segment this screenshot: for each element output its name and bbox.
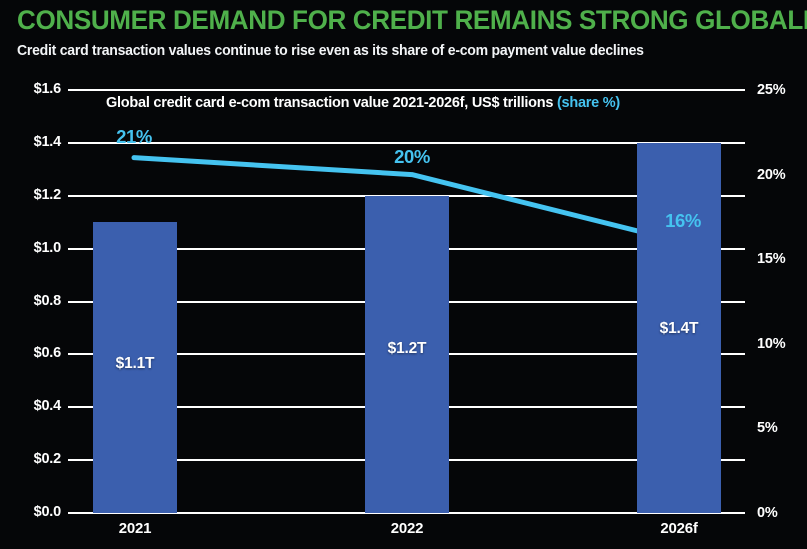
gridline xyxy=(68,89,745,91)
y-axis-right-tick: 0% xyxy=(757,505,807,521)
y-axis-right-tick: 5% xyxy=(757,420,807,436)
line-value-label-2022: 20% xyxy=(357,146,467,168)
y-axis-left-tick: $0.8 xyxy=(1,293,61,309)
y-axis-left-tick: $0.4 xyxy=(1,398,61,414)
line-value-label-2026f: 16% xyxy=(628,210,738,232)
bar-value-label-2026f: $1.4T xyxy=(619,320,739,338)
y-axis-right-tick: 20% xyxy=(757,167,807,183)
chart-canvas: CONSUMER DEMAND FOR CREDIT REMAINS STRON… xyxy=(0,0,807,549)
bar-value-label-2021: $1.1T xyxy=(75,355,195,373)
y-axis-right-tick: 15% xyxy=(757,251,807,267)
y-axis-left-tick: $0.6 xyxy=(1,345,61,361)
x-axis-tick-2022: 2022 xyxy=(347,520,467,537)
y-axis-left-tick: $1.6 xyxy=(1,81,61,97)
y-axis-left-tick: $1.0 xyxy=(1,240,61,256)
y-axis-left-tick: $1.2 xyxy=(1,187,61,203)
chart-area: Global credit card e-com transaction val… xyxy=(0,0,807,549)
line-value-label-2021: 21% xyxy=(79,126,189,148)
bar-value-label-2022: $1.2T xyxy=(347,340,467,358)
y-axis-left-tick: $0.2 xyxy=(1,451,61,467)
x-axis-tick-2026f: 2026f xyxy=(619,520,739,537)
y-axis-right-tick: 25% xyxy=(757,82,807,98)
x-axis-tick-2021: 2021 xyxy=(75,520,195,537)
y-axis-left-tick: $1.4 xyxy=(1,134,61,150)
y-axis-left-tick: $0.0 xyxy=(1,504,61,520)
y-axis-right-tick: 10% xyxy=(757,336,807,352)
